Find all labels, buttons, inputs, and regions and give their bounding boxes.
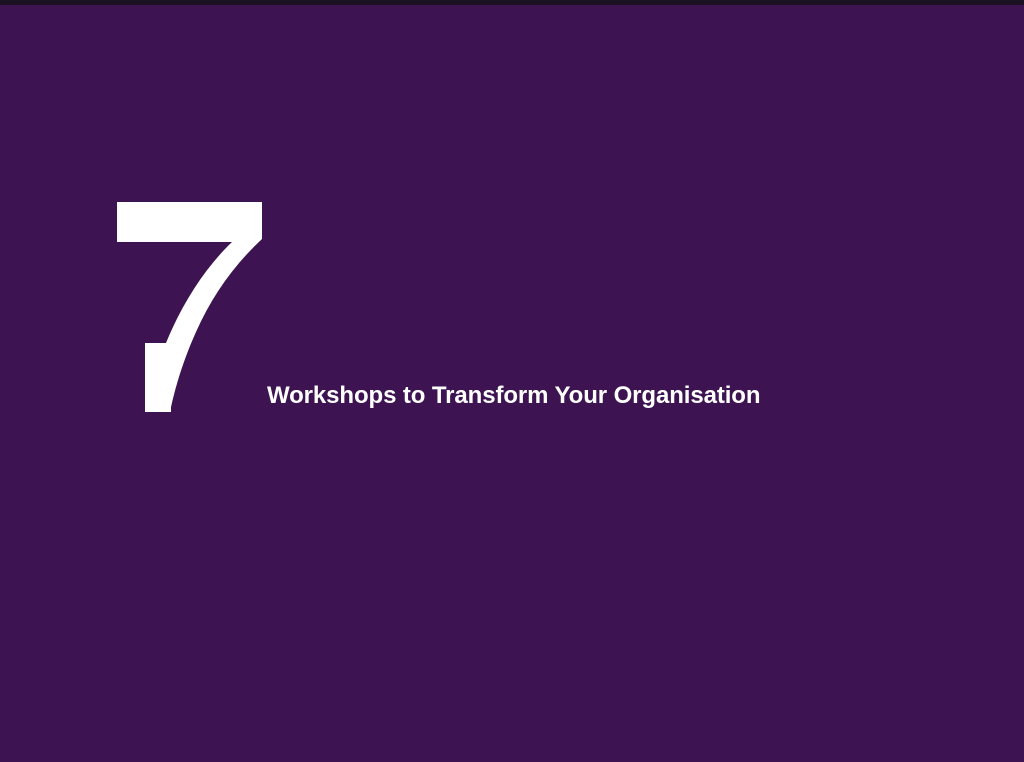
title-slide: 7 Workshops to Transform Your Organisati…: [0, 0, 1024, 762]
slide-subtitle: Workshops to Transform Your Organisation: [267, 382, 907, 410]
big-numeral-seven: [110, 193, 276, 421]
title-block: 7 Workshops to Transform Your Organisati…: [0, 0, 1024, 762]
